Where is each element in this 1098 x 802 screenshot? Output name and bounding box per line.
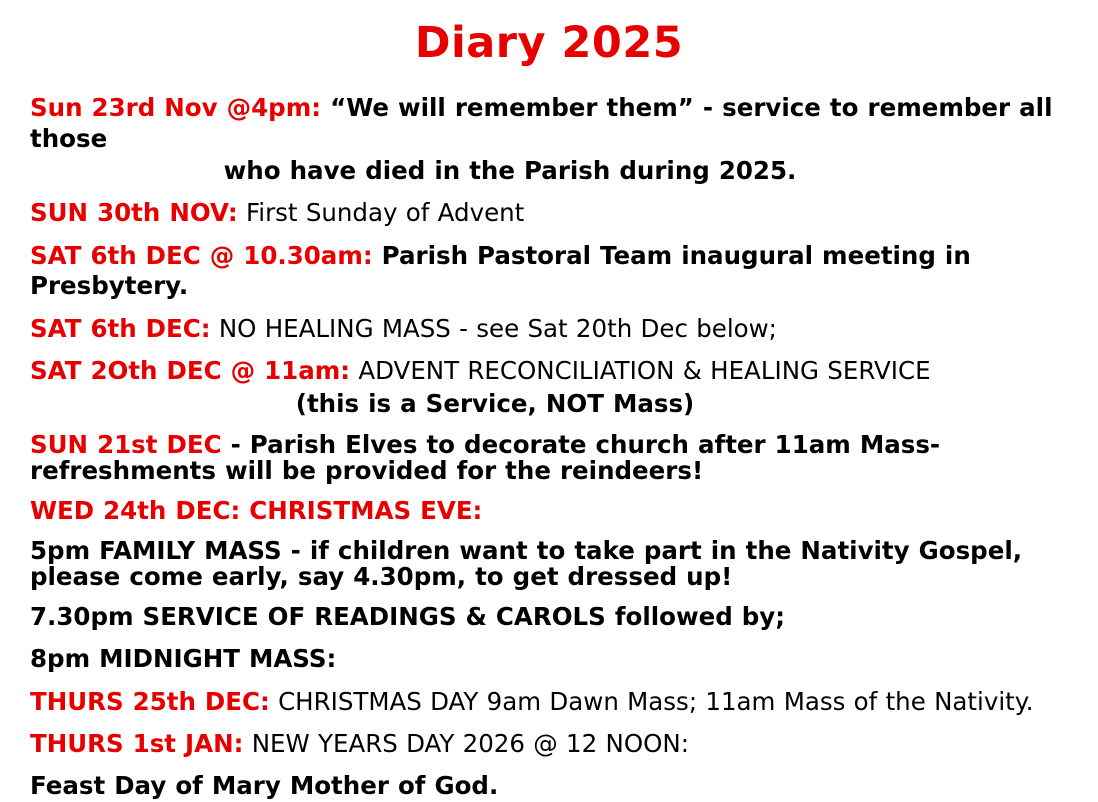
entry-date-label: THURS 25th DEC: [30,687,270,716]
diary-entry-jan-01-feast: Feast Day of Mary Mother of God. [30,771,1070,801]
diary-entry-nov-23-continuation: who have died in the Parish during 2025. [30,156,1070,186]
diary-entry-dec-20-note: (this is a Service, NOT Mass) [30,389,1070,419]
entry-date-label: Sun 23rd Nov @4pm: [30,93,321,122]
diary-entry-dec-24-family-mass: 5pm FAMILY MASS - if children want to ta… [30,538,1070,591]
diary-entry-jan-01: THURS 1st JAN: NEW YEARS DAY 2026 @ 12 N… [30,729,1070,759]
entry-continuation-text: who have died in the Parish during 2025. [224,156,797,185]
diary-entry-list: Sun 23rd Nov @4pm: “We will remember the… [0,93,1098,801]
diary-entry-dec-25: THURS 25th DEC: CHRISTMAS DAY 9am Dawn M… [30,687,1070,717]
diary-entry-dec-06-meeting: SAT 6th DEC @ 10.30am: Parish Pastoral T… [30,241,1070,302]
entry-description: 5pm FAMILY MASS - if children want to ta… [30,536,1022,591]
diary-entry-dec-20: SAT 2Oth DEC @ 11am: ADVENT RECONCILIATI… [30,356,1070,386]
diary-entry-dec-21: SUN 21st DEC - Parish Elves to decorate … [30,432,1070,485]
entry-date-label: THURS 1st JAN: [30,729,243,758]
diary-entry-nov-23: Sun 23rd Nov @4pm: “We will remember the… [30,93,1070,154]
entry-description: NEW YEARS DAY 2026 @ 12 NOON: [243,729,689,758]
entry-date-label: SAT 6th DEC @ 10.30am: [30,241,373,270]
entry-date-label: SUN 21st DEC [30,430,222,459]
entry-description: First Sunday of Advent [238,198,525,227]
diary-entry-dec-06-healing: SAT 6th DEC: NO HEALING MASS - see Sat 2… [30,314,1070,344]
entry-date-label: WED 24th DEC: CHRISTMAS EVE: [30,496,482,525]
entry-description: 7.30pm SERVICE OF READINGS & CAROLS foll… [30,602,785,631]
entry-description: Feast Day of Mary Mother of God. [30,771,498,800]
diary-entry-dec-24-carols: 7.30pm SERVICE OF READINGS & CAROLS foll… [30,602,1070,632]
entry-description: CHRISTMAS DAY 9am Dawn Mass; 11am Mass o… [270,687,1034,716]
diary-entry-dec-24: WED 24th DEC: CHRISTMAS EVE: [30,496,1070,526]
page-title: Diary 2025 [0,20,1098,67]
entry-description: ADVENT RECONCILIATION & HEALING SERVICE [350,356,931,385]
entry-description: 8pm MIDNIGHT MASS: [30,644,336,673]
diary-page: Diary 2025 Sun 23rd Nov @4pm: “We will r… [0,20,1098,800]
entry-date-label: SUN 30th NOV: [30,198,238,227]
diary-entry-nov-30: SUN 30th NOV: First Sunday of Advent [30,198,1070,228]
entry-continuation-text: (this is a Service, NOT Mass) [296,389,694,418]
diary-entry-dec-24-midnight: 8pm MIDNIGHT MASS: [30,644,1070,674]
entry-date-label: SAT 6th DEC: [30,314,211,343]
entry-date-label: SAT 2Oth DEC @ 11am: [30,356,350,385]
entry-description: NO HEALING MASS - see Sat 20th Dec below… [211,314,777,343]
